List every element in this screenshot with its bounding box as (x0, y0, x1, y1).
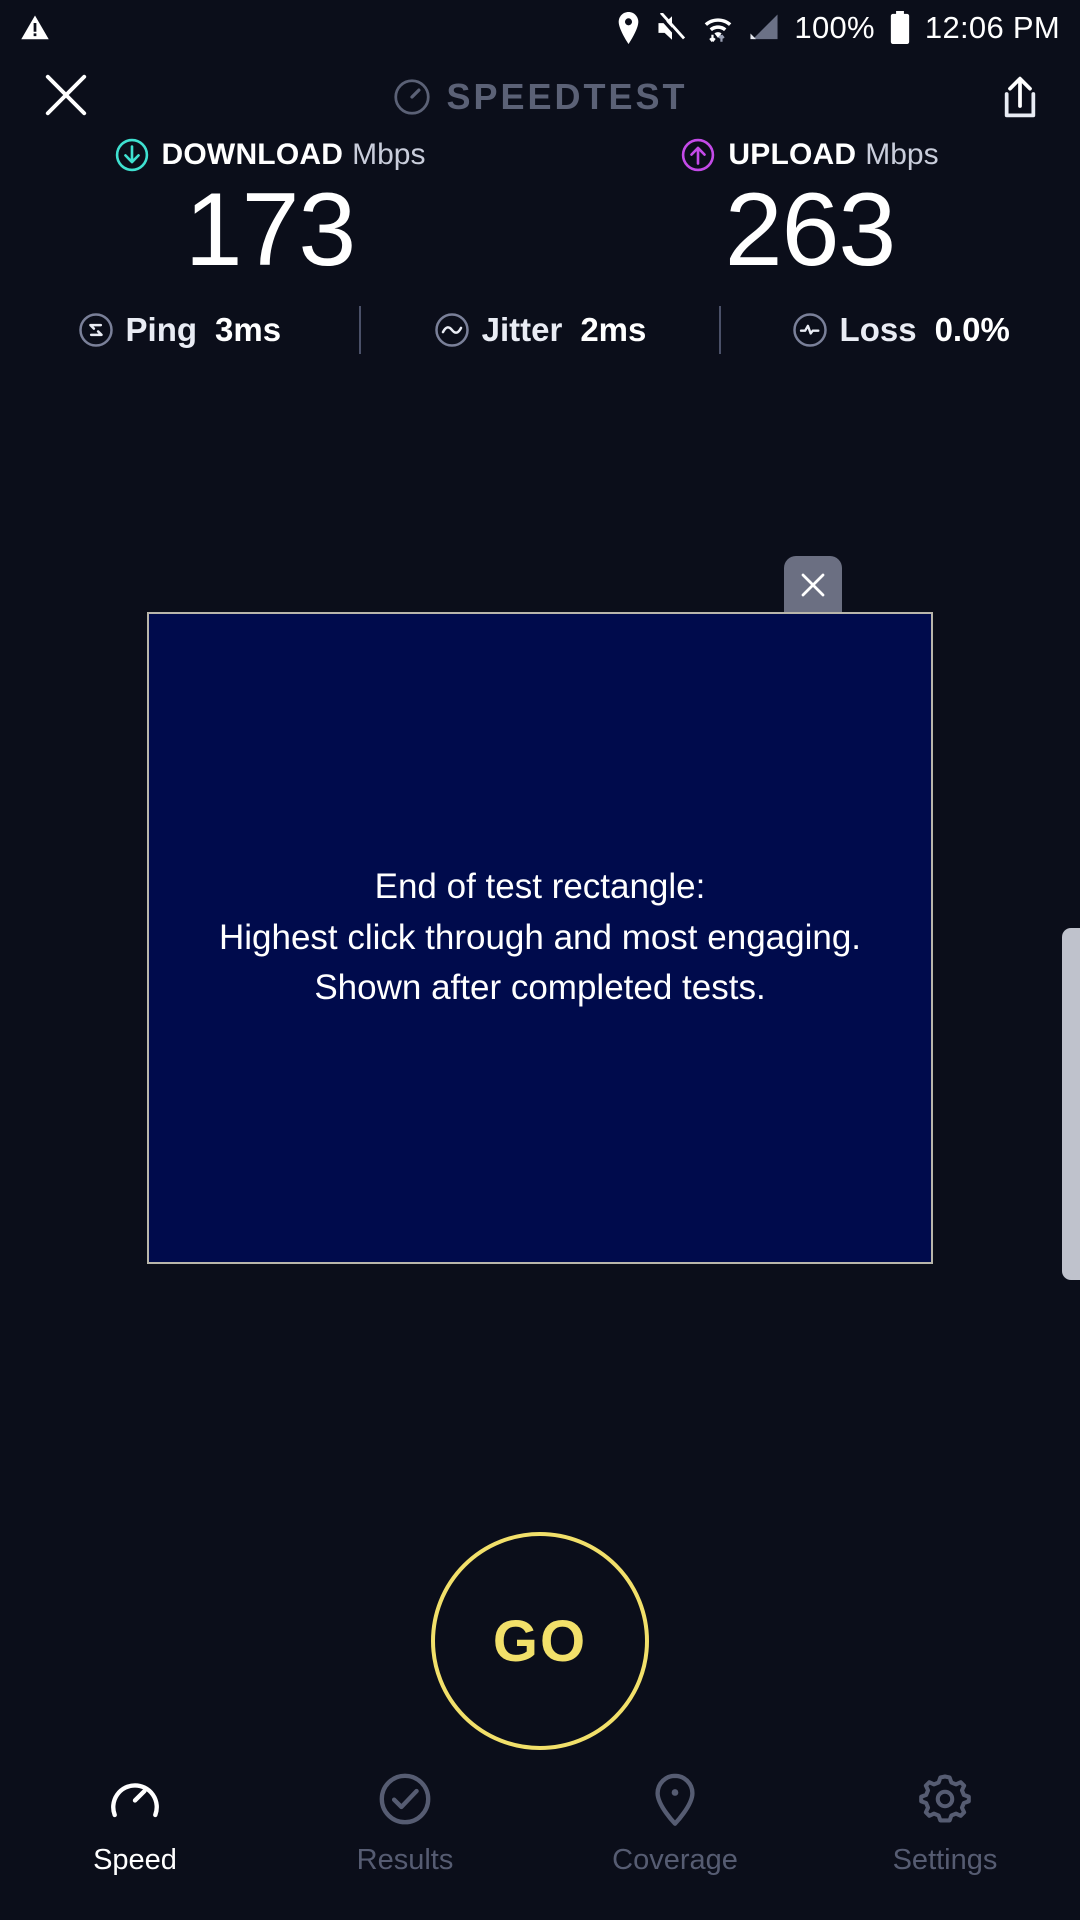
advertisement-container: End of test rectangle: Highest click thr… (147, 612, 933, 1264)
upload-result: UPLOAD Mbps 263 (540, 138, 1080, 282)
nav-label-coverage: Coverage (612, 1844, 738, 1877)
metric-ping-label: Ping (126, 311, 198, 349)
ad-line-3: Shown after completed tests. (219, 963, 861, 1013)
metric-jitter-value: 2ms (580, 311, 646, 349)
app-title: SPEEDTEST (446, 76, 687, 118)
metric-jitter-label: Jitter (482, 311, 563, 349)
ad-close-button[interactable] (784, 556, 842, 614)
cellular-signal-icon (748, 13, 780, 43)
advertisement-banner[interactable]: End of test rectangle: Highest click thr… (147, 612, 933, 1264)
upload-arrow-icon (681, 138, 715, 172)
download-arrow-icon (115, 138, 149, 172)
warning-triangle-icon (20, 13, 50, 43)
download-result: DOWNLOAD Mbps 173 (0, 138, 540, 282)
ping-icon (78, 312, 114, 348)
download-label: DOWNLOAD (162, 138, 344, 172)
upload-unit: Mbps (865, 138, 938, 172)
download-unit: Mbps (352, 138, 425, 172)
jitter-icon (434, 312, 470, 348)
battery-percent-label: 100% (794, 10, 875, 46)
results-panel: DOWNLOAD Mbps 173 UPLOAD Mbps 263 (0, 138, 1080, 282)
download-value: 173 (185, 178, 356, 282)
nav-item-coverage[interactable]: Coverage (540, 1770, 810, 1877)
upload-label: UPLOAD (728, 138, 856, 172)
speedtest-app-screen: 100% 12:06 PM SPEEDTEST (0, 0, 1080, 1920)
gear-icon (916, 1770, 974, 1828)
metric-loss: Loss 0.0% (721, 311, 1080, 349)
check-circle-icon (376, 1770, 434, 1828)
nav-item-settings[interactable]: Settings (810, 1770, 1080, 1877)
share-button[interactable] (996, 74, 1044, 127)
app-title-group: SPEEDTEST (0, 56, 1080, 138)
nav-label-speed: Speed (93, 1844, 177, 1877)
metric-ping-value: 3ms (215, 311, 281, 349)
ad-text: End of test rectangle: Highest click thr… (201, 862, 879, 1013)
ad-line-1: End of test rectangle: (219, 862, 861, 912)
bottom-navigation: Speed Results Coverage (0, 1760, 1080, 1920)
close-button[interactable] (40, 69, 92, 126)
upload-value: 263 (725, 178, 896, 282)
nav-label-results: Results (357, 1844, 454, 1877)
clock-label: 12:06 PM (925, 10, 1060, 46)
go-button-label: GO (493, 1608, 587, 1675)
metrics-row: Ping 3ms Jitter 2ms Loss 0.0% (0, 300, 1080, 360)
loss-icon (792, 312, 828, 348)
ad-line-2: Highest click through and most engaging. (219, 913, 861, 963)
metric-loss-label: Loss (840, 311, 917, 349)
go-button[interactable]: GO (431, 1532, 649, 1750)
map-pin-icon (646, 1770, 704, 1828)
location-pin-icon (615, 12, 642, 44)
app-header: SPEEDTEST (0, 56, 1080, 138)
vertical-scrollbar[interactable] (1062, 928, 1080, 1280)
metric-loss-value: 0.0% (935, 311, 1010, 349)
nav-label-settings: Settings (893, 1844, 998, 1877)
wifi-icon (702, 12, 734, 44)
speedometer-icon (392, 77, 432, 117)
metric-jitter: Jitter 2ms (361, 311, 720, 349)
metric-ping: Ping 3ms (0, 311, 359, 349)
battery-full-icon (889, 11, 911, 45)
nav-item-speed[interactable]: Speed (0, 1770, 270, 1877)
mute-icon (656, 13, 688, 43)
status-bar: 100% 12:06 PM (0, 0, 1080, 56)
speedometer-icon (106, 1770, 164, 1828)
nav-item-results[interactable]: Results (270, 1770, 540, 1877)
